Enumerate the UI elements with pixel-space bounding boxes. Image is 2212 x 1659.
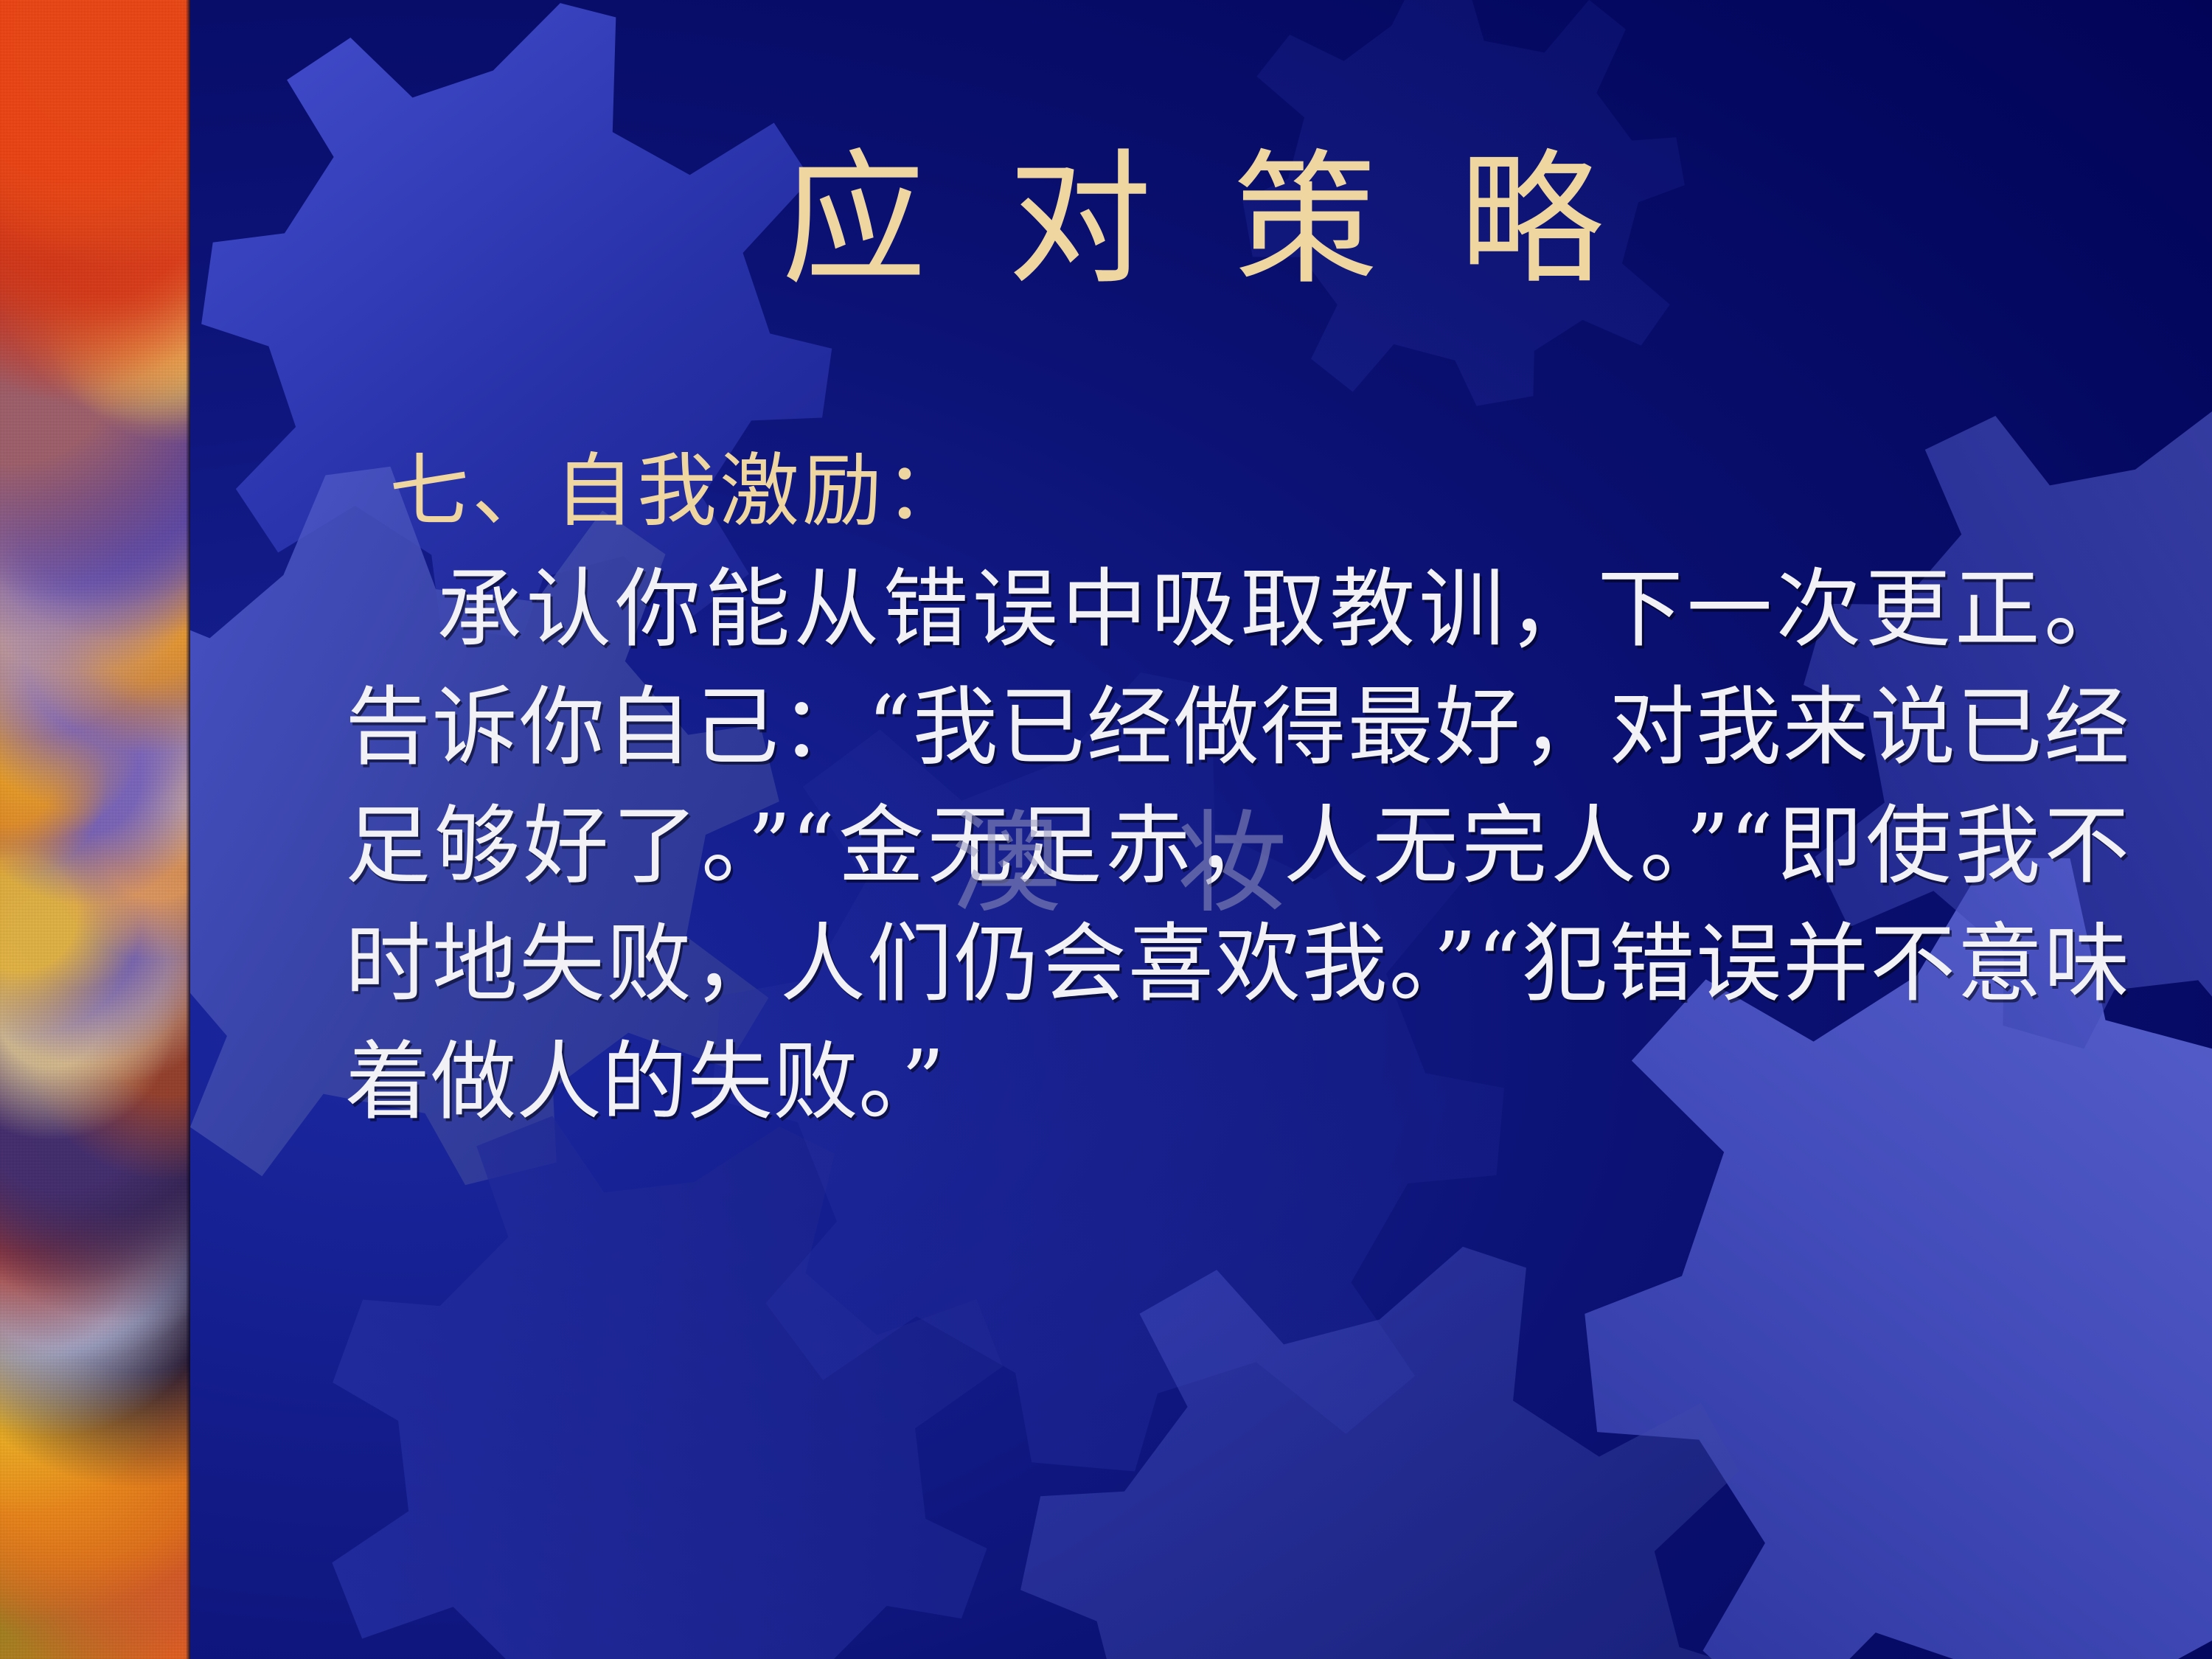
page-title: 应 对 策 略 bbox=[782, 143, 1621, 299]
slide-body-block: 七、自我激励： 承认你能从错误中吸取教训，下一次更正。告诉你自己：“我已经做得最… bbox=[345, 435, 2129, 1141]
slide-title-block: 应 对 策 略 bbox=[782, 111, 1888, 332]
body-paragraph: 承认你能从错误中吸取教训，下一次更正。告诉你自己：“我已经做得最好，对我来说已经… bbox=[345, 551, 2129, 1141]
strip-edge-shadow bbox=[186, 0, 190, 1659]
left-decorative-strip bbox=[0, 0, 190, 1659]
slide-canvas: 应 对 策 略 七、自我激励： 承认你能从错误中吸取教训，下一次更正。告诉你自己… bbox=[0, 0, 2212, 1659]
strip-grain-overlay bbox=[0, 0, 190, 1659]
section-heading: 七、自我激励： bbox=[345, 435, 2129, 548]
